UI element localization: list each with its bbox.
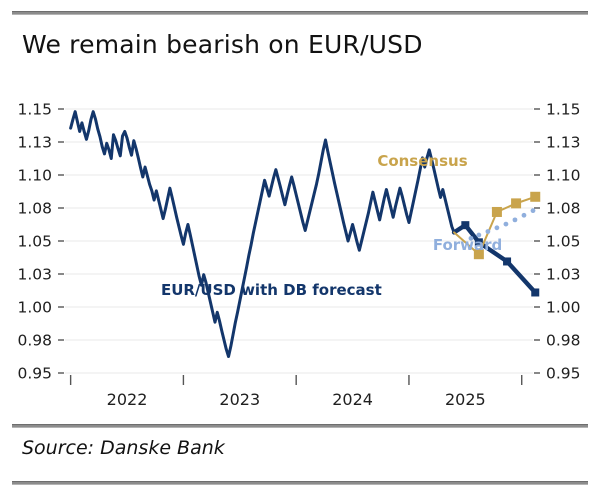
y-axis-label-right: 1.03 [546, 266, 581, 284]
forward-dot [495, 225, 500, 230]
y-axis-label-left: 0.98 [17, 332, 52, 350]
chart-annotation: Consensus [377, 152, 467, 170]
y-axis-label-right: 1.05 [546, 233, 581, 251]
x-axis-label: 2022 [107, 390, 148, 409]
forward-dot [531, 208, 536, 213]
top-divider-rule [12, 11, 588, 15]
consensus-marker [511, 198, 521, 208]
y-axis-label-right: 1.00 [546, 299, 581, 317]
chart-annotation: Forward [433, 236, 502, 254]
chart-plot-area: 1.151.131.101.081.051.031.000.980.95 1.1… [0, 92, 600, 422]
y-axis-label-left: 1.13 [17, 134, 52, 152]
source-caption: Source: Danske Bank [22, 437, 225, 459]
series-line [71, 112, 454, 357]
forward-dot [522, 213, 527, 218]
y-axis-label-left: 1.15 [17, 101, 52, 119]
consensus-marker [530, 192, 540, 202]
y-axis-label-right: 0.95 [546, 365, 581, 383]
x-axis-label: 2024 [332, 390, 373, 409]
consensus-marker [492, 207, 502, 217]
y-axis-label-left: 1.00 [17, 299, 52, 317]
y-axis-label-right: 1.10 [546, 167, 581, 185]
y-axis-label-right: 0.98 [546, 332, 581, 350]
y-axis-label-left: 1.03 [17, 266, 52, 284]
chart-annotation: EUR/USD with DB forecast [161, 281, 382, 299]
middle-divider-rule [12, 424, 588, 428]
y-axis-label-left: 1.08 [17, 200, 52, 218]
y-axis-label-left: 1.10 [17, 167, 52, 185]
left-axis-labels: 1.151.131.101.081.051.031.000.980.95 [17, 101, 52, 383]
forecast-marker [461, 221, 469, 229]
y-axis-label-left: 0.95 [17, 365, 52, 383]
forward-dot [485, 229, 490, 234]
y-axis-label-left: 1.05 [17, 233, 52, 251]
forward-dot [513, 217, 518, 222]
y-axis-label-right: 1.13 [546, 134, 581, 152]
x-axis-label: 2023 [219, 390, 260, 409]
x-axis-labels: 2022202320242025 [107, 390, 486, 409]
bottom-divider-rule [12, 481, 588, 485]
chart-title: We remain bearish on EUR/USD [22, 30, 423, 59]
forecast-marker [503, 257, 511, 265]
left-axis-ticks [58, 109, 64, 373]
eurusd-line-chart: 1.151.131.101.081.051.031.000.980.95 1.1… [0, 92, 600, 422]
y-axis-label-right: 1.15 [546, 101, 581, 119]
chart-figure: We remain bearish on EUR/USD Source: Dan… [0, 0, 600, 498]
x-axis-label: 2025 [445, 390, 486, 409]
data-series-layer [71, 112, 541, 357]
y-axis-label-right: 1.08 [546, 200, 581, 218]
right-axis-labels: 1.151.131.101.081.051.031.000.980.95 [546, 101, 581, 383]
x-axis-ticks [71, 375, 522, 385]
right-axis-ticks [534, 109, 540, 373]
forecast-marker [531, 288, 539, 296]
forward-dot [504, 222, 509, 227]
